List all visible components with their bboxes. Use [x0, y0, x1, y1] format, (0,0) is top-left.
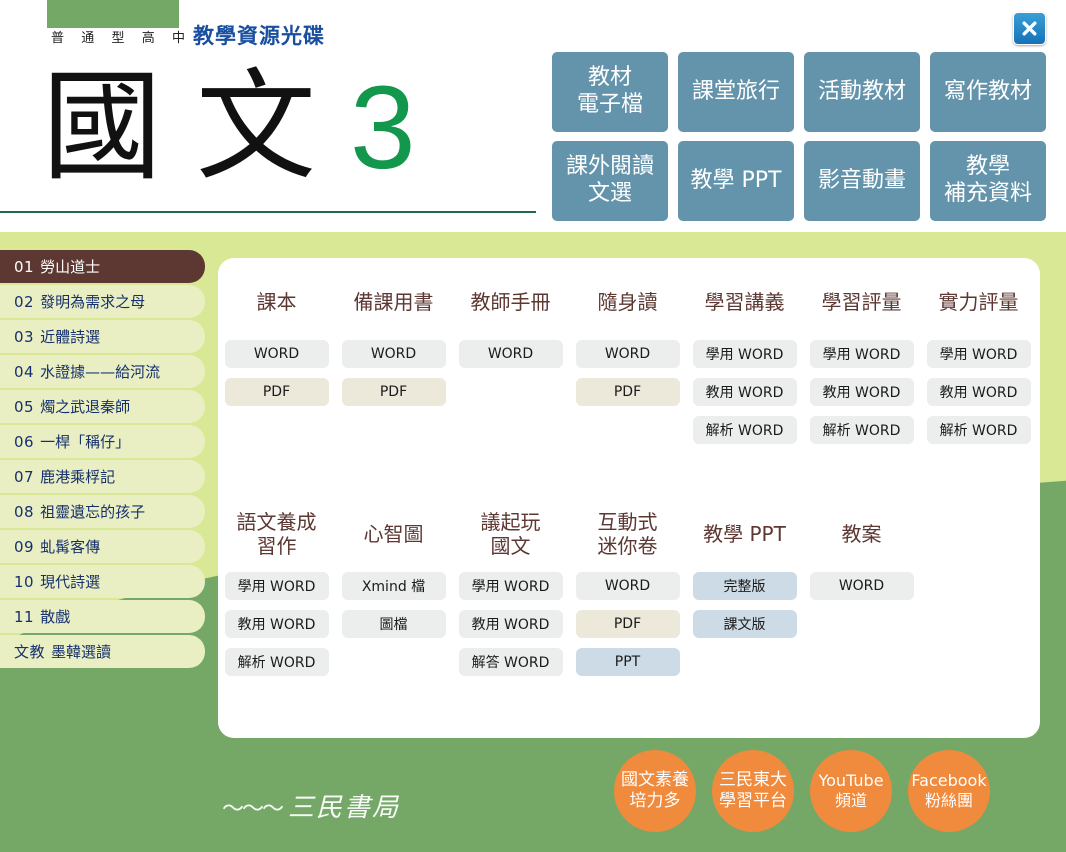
sidebar-item-number: 01: [14, 258, 34, 276]
resource-columns-2: 語文養成 習作學用 WORD教用 WORD解析 WORD心智圖Xmind 檔圖檔…: [218, 510, 1040, 686]
resource-chip-word[interactable]: 教用 WORD: [459, 610, 563, 638]
nav-button-8[interactable]: 教學 補充資料: [930, 141, 1046, 221]
footer-circle-link-4[interactable]: Facebook 粉絲團: [908, 750, 990, 832]
footer-circle-link-3[interactable]: YouTube 頻道: [810, 750, 892, 832]
publisher-wave-mark: 〜〜〜: [222, 797, 282, 822]
resource-column: 學習講義學用 WORD教用 WORD解析 WORD: [686, 278, 803, 454]
sidebar-item-label: 墨韓選讀: [51, 641, 111, 662]
resource-chip-pdf[interactable]: PDF: [225, 378, 329, 406]
resource-chip-word[interactable]: 教用 WORD: [225, 610, 329, 638]
resource-column: 心智圖Xmind 檔圖檔: [335, 510, 452, 686]
sidebar-item-01[interactable]: 01勞山道士: [0, 250, 205, 283]
resource-column-title: 備課用書: [354, 278, 434, 326]
brand-block: 普 通 型 高 中: [47, 0, 179, 48]
resource-column: 實力評量學用 WORD教用 WORD解析 WORD: [920, 278, 1037, 454]
nav-button-2[interactable]: 課堂旅行: [678, 52, 794, 132]
sidebar-item-08[interactable]: 08祖靈遺忘的孩子: [0, 495, 205, 528]
sidebar-item-label: 現代詩選: [40, 571, 100, 592]
sidebar-item-number: 03: [14, 328, 34, 346]
sidebar-item-number: 06: [14, 433, 34, 451]
resource-chip-ppt[interactable]: 完整版: [693, 572, 797, 600]
nav-button-7[interactable]: 影音動畫: [804, 141, 920, 221]
resource-chip-word[interactable]: 解析 WORD: [927, 416, 1031, 444]
sidebar-item-label: 虬髯客傳: [40, 536, 100, 557]
sidebar-item-label: 勞山道士: [40, 256, 100, 277]
nav-button-4[interactable]: 寫作教材: [930, 52, 1046, 132]
resource-chip-pdf[interactable]: PDF: [576, 610, 680, 638]
sidebar-item-number: 04: [14, 363, 34, 381]
resource-chip-pdf[interactable]: PDF: [576, 378, 680, 406]
nav-button-5[interactable]: 課外閱讀 文選: [552, 141, 668, 221]
resource-chip-ppt[interactable]: PPT: [576, 648, 680, 676]
brand-subtitle: 普 通 型 高 中: [47, 28, 179, 48]
resource-column-title: 心智圖: [364, 510, 424, 558]
sidebar-item-label: 散戲: [40, 606, 70, 627]
resource-chip-word[interactable]: 教用 WORD: [927, 378, 1031, 406]
sidebar-item-label: 祖靈遺忘的孩子: [40, 501, 145, 522]
sidebar-item-label: 一桿「稱仔」: [40, 431, 130, 452]
resource-column-title: 議起玩 國文: [481, 510, 541, 558]
subject-volume: 3: [350, 62, 416, 194]
resource-chip-word[interactable]: 教用 WORD: [810, 378, 914, 406]
resource-chip-word[interactable]: WORD: [342, 340, 446, 368]
sidebar-item-02[interactable]: 02發明為需求之母: [0, 285, 205, 318]
resource-column: 語文養成 習作學用 WORD教用 WORD解析 WORD: [218, 510, 335, 686]
sidebar-item-label: 水證據——給河流: [40, 361, 160, 382]
nav-button-6[interactable]: 教學 PPT: [678, 141, 794, 221]
resource-column-title: 學習評量: [822, 278, 902, 326]
sidebar-item-number: 11: [14, 608, 34, 626]
publisher-name: 三民書局: [288, 793, 400, 823]
resource-row-1: 課本WORDPDF備課用書WORDPDF教師手冊WORD隨身讀WORDPDF學習…: [218, 278, 1040, 454]
resource-chip-pdf[interactable]: PDF: [342, 378, 446, 406]
resource-chip-word[interactable]: WORD: [576, 340, 680, 368]
resource-chip-word[interactable]: 解析 WORD: [693, 416, 797, 444]
resource-chip-word[interactable]: 學用 WORD: [693, 340, 797, 368]
resource-column: 課本WORDPDF: [218, 278, 335, 454]
resource-chip-word[interactable]: 學用 WORD: [927, 340, 1031, 368]
footer-circle-link-2[interactable]: 三民東大 學習平台: [712, 750, 794, 832]
resource-column-title: 課本: [257, 278, 297, 326]
resource-column: 互動式 迷你卷WORDPDFPPT: [569, 510, 686, 686]
nav-button-1[interactable]: 教材 電子檔: [552, 52, 668, 132]
resource-chip-word[interactable]: 教用 WORD: [693, 378, 797, 406]
sidebar-item-07[interactable]: 07鹿港乘桴記: [0, 460, 205, 493]
resource-column-title: 教師手冊: [471, 278, 551, 326]
header-divider: [0, 211, 536, 213]
resource-column-title: 教案: [842, 510, 882, 558]
sidebar-item-number: 05: [14, 398, 34, 416]
sidebar-item-文教[interactable]: 文教墨韓選讀: [0, 635, 205, 668]
resource-column: 隨身讀WORDPDF: [569, 278, 686, 454]
page-title: 教學資源光碟: [193, 20, 325, 50]
resource-row-2: 語文養成 習作學用 WORD教用 WORD解析 WORD心智圖Xmind 檔圖檔…: [218, 510, 1040, 686]
sidebar-item-06[interactable]: 06一桿「稱仔」: [0, 425, 205, 458]
sidebar-item-number: 文教: [14, 641, 45, 662]
sidebar-item-number: 10: [14, 573, 34, 591]
resource-column-title: 語文養成 習作: [237, 510, 317, 558]
resource-chip-word[interactable]: WORD: [810, 572, 914, 600]
sidebar-item-04[interactable]: 04水證據——給河流: [0, 355, 205, 388]
resource-column: 教師手冊WORD: [452, 278, 569, 454]
nav-button-3[interactable]: 活動教材: [804, 52, 920, 132]
sidebar-item-number: 07: [14, 468, 34, 486]
app-header: 普 通 型 高 中 教學資源光碟 國文3 教材 電子檔課堂旅行活動教材寫作教材課…: [0, 0, 1066, 232]
resource-column: 備課用書WORDPDF: [335, 278, 452, 454]
resource-column: 教學 PPT完整版課文版: [686, 510, 803, 686]
resource-chip-word[interactable]: 解析 WORD: [810, 416, 914, 444]
resource-column-title: 實力評量: [939, 278, 1019, 326]
top-nav-grid: 教材 電子檔課堂旅行活動教材寫作教材課外閱讀 文選教學 PPT影音動畫教學 補充…: [552, 52, 1046, 221]
resource-chip-word[interactable]: 學用 WORD: [459, 572, 563, 600]
resource-chip-word[interactable]: 學用 WORD: [810, 340, 914, 368]
resource-chip-word[interactable]: WORD: [576, 572, 680, 600]
sidebar-item-label: 發明為需求之母: [40, 291, 145, 312]
resource-column-title: 互動式 迷你卷: [598, 510, 658, 558]
resource-chip-word[interactable]: 圖檔: [342, 610, 446, 638]
sidebar-item-number: 02: [14, 293, 34, 311]
resource-column: 學習評量學用 WORD教用 WORD解析 WORD: [803, 278, 920, 454]
footer-circle-link-1[interactable]: 國文素養 培力多: [614, 750, 696, 832]
sidebar-item-number: 09: [14, 538, 34, 556]
sidebar-item-05[interactable]: 05燭之武退秦師: [0, 390, 205, 423]
sidebar-item-03[interactable]: 03近體詩選: [0, 320, 205, 353]
resource-columns-1: 課本WORDPDF備課用書WORDPDF教師手冊WORD隨身讀WORDPDF學習…: [218, 278, 1040, 454]
resource-column-title: 學習講義: [705, 278, 785, 326]
sidebar-item-label: 近體詩選: [40, 326, 100, 347]
subject-title: 國文3: [42, 58, 416, 198]
footer-link-circles: 國文素養 培力多三民東大 學習平台YouTube 頻道Facebook 粉絲團: [614, 750, 990, 832]
resource-card: 課本WORDPDF備課用書WORDPDF教師手冊WORD隨身讀WORDPDF學習…: [218, 258, 1040, 738]
sidebar-item-10[interactable]: 10現代詩選: [0, 565, 205, 598]
resource-chip-word[interactable]: 學用 WORD: [225, 572, 329, 600]
sidebar-item-number: 08: [14, 503, 34, 521]
resource-chip-word[interactable]: WORD: [225, 340, 329, 368]
resource-chip-word[interactable]: 解答 WORD: [459, 648, 563, 676]
resource-column: 教案WORD: [803, 510, 920, 686]
sidebar-item-label: 燭之武退秦師: [40, 396, 130, 417]
resource-chip-word[interactable]: Xmind 檔: [342, 572, 446, 600]
resource-column-title: 隨身讀: [598, 278, 658, 326]
sidebar-item-11[interactable]: 11散戲: [0, 600, 205, 633]
resource-chip-word[interactable]: 解析 WORD: [225, 648, 329, 676]
sidebar-item-label: 鹿港乘桴記: [40, 466, 115, 487]
subject-name: 國文: [42, 58, 350, 197]
sidebar-item-09[interactable]: 09虬髯客傳: [0, 530, 205, 563]
lesson-sidebar: 01勞山道士02發明為需求之母03近體詩選04水證據——給河流05燭之武退秦師0…: [0, 250, 205, 670]
resource-column-title: 教學 PPT: [703, 510, 786, 558]
publisher-logo: 〜〜〜三民書局: [222, 787, 400, 824]
resource-column: 議起玩 國文學用 WORD教用 WORD解答 WORD: [452, 510, 569, 686]
brand-green-box: [47, 0, 179, 28]
resource-chip-word[interactable]: WORD: [459, 340, 563, 368]
close-icon[interactable]: [1013, 12, 1046, 45]
resource-chip-ppt[interactable]: 課文版: [693, 610, 797, 638]
